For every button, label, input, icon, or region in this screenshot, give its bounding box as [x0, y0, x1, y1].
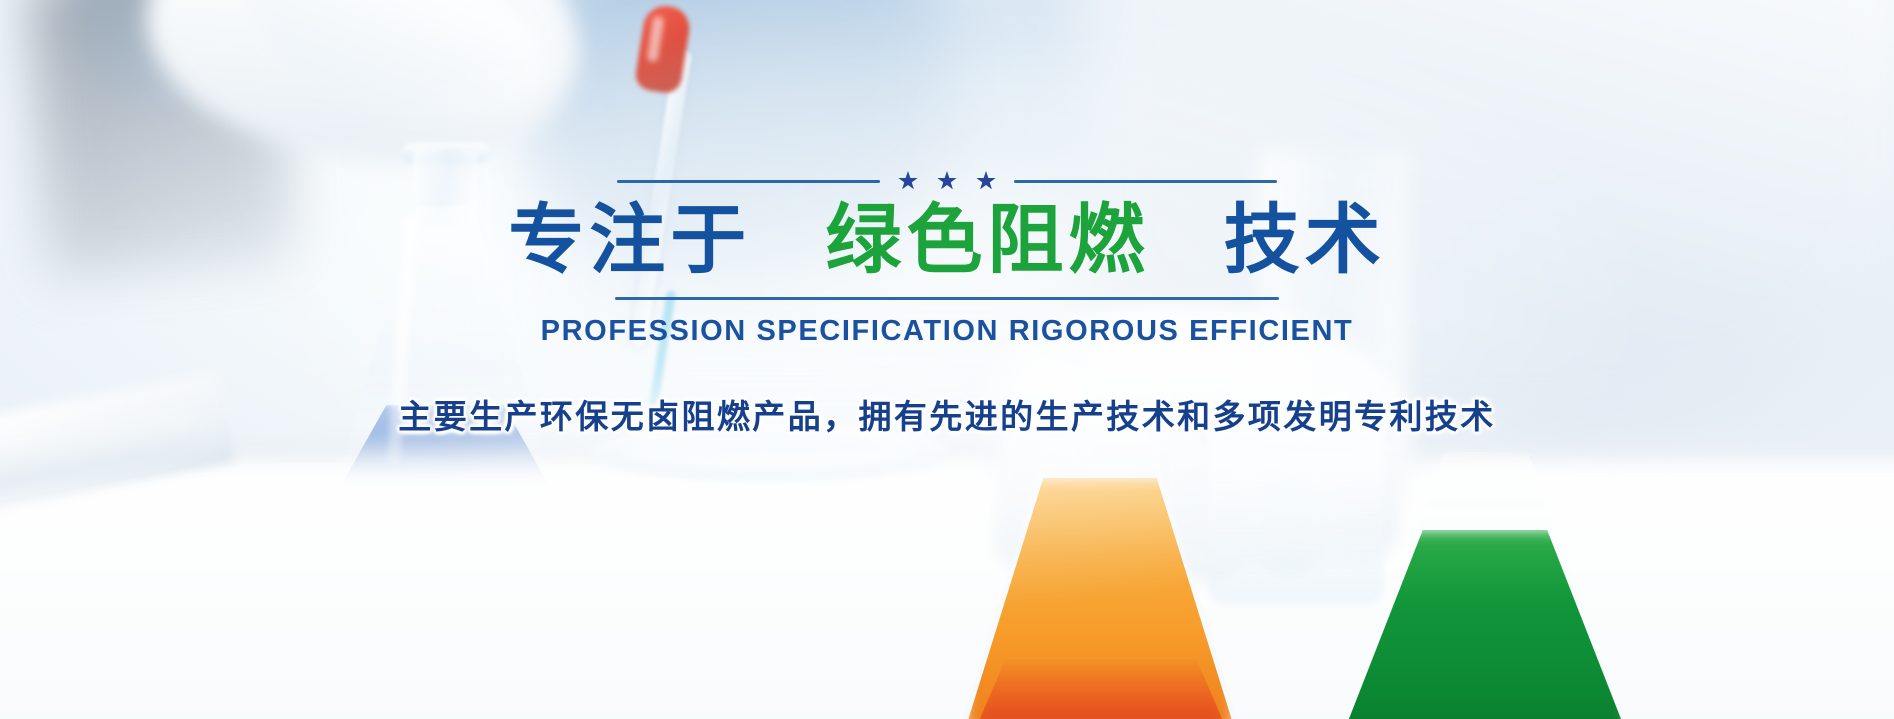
banner-content: 专注于 绿色阻燃 技术 PROFESSION SPECIFICATION RIG…: [0, 0, 1894, 719]
hero-banner: 专注于 绿色阻燃 技术 PROFESSION SPECIFICATION RIG…: [0, 0, 1894, 719]
star-icon: [898, 171, 918, 191]
banner-headline: 专注于 绿色阻燃 技术: [508, 198, 1386, 283]
headline-part-2: 绿色阻燃: [826, 198, 1150, 283]
star-icon: [937, 171, 957, 191]
headline-part-1: 专注于: [508, 198, 751, 283]
headline-underline: [615, 297, 1279, 300]
star-icon: [976, 171, 996, 191]
divider-rule-left: [617, 180, 880, 183]
banner-subtitle-en: PROFESSION SPECIFICATION RIGOROUS EFFICI…: [541, 315, 1354, 348]
star-divider: [617, 170, 1277, 192]
divider-stars: [880, 171, 1014, 191]
headline-part-3: 技术: [1224, 198, 1386, 283]
divider-rule-right: [1014, 180, 1277, 183]
banner-tagline-cn: 主要生产环保无卤阻燃产品，拥有先进的生产技术和多项发明专利技术: [398, 390, 1495, 438]
